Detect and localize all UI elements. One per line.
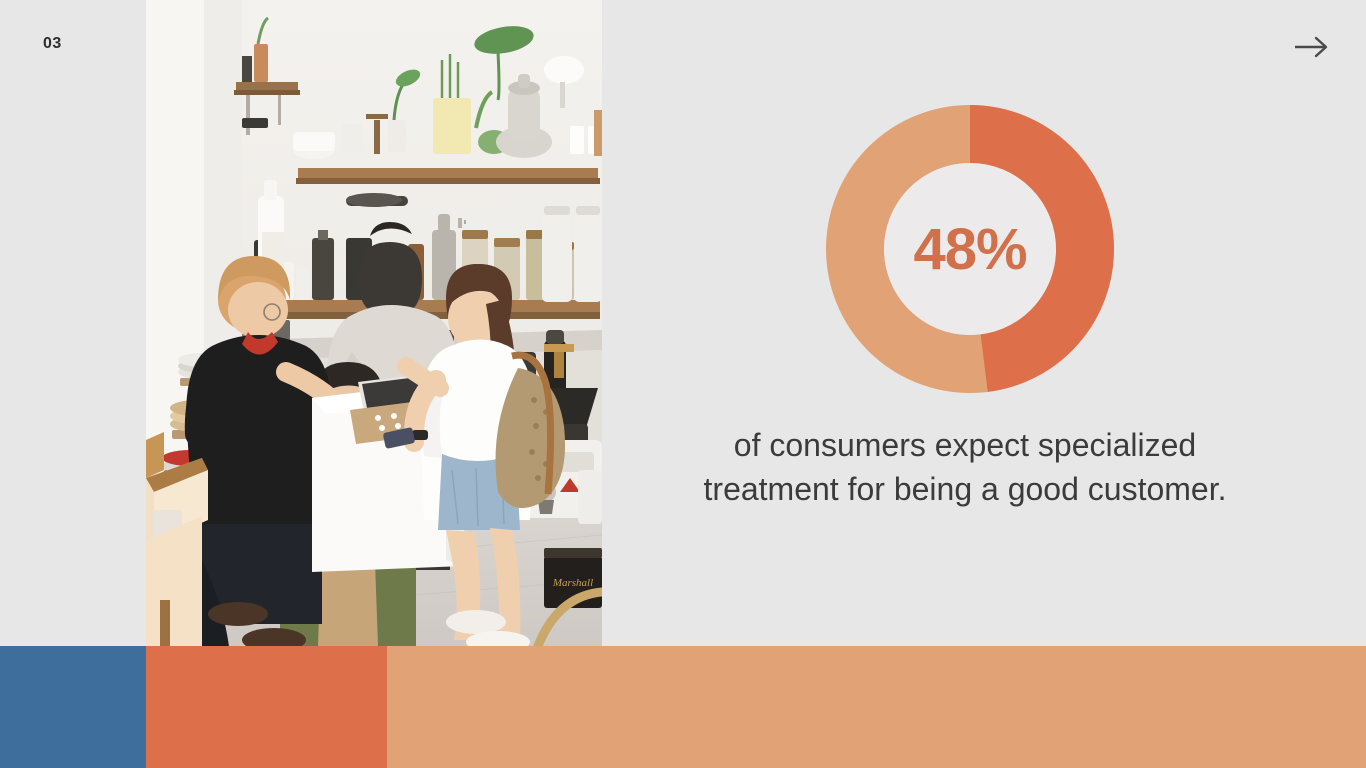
footer-bar-blue (0, 646, 146, 768)
arrow-right-icon (1294, 36, 1330, 58)
slide: 03 (0, 0, 1366, 768)
stat-caption: of consumers expect specialized treatmen… (700, 424, 1230, 511)
footer-bar-light-orange (387, 646, 1366, 768)
page-number: 03 (43, 35, 62, 53)
donut-chart: 48% (826, 105, 1114, 393)
footer-color-bars (0, 646, 1366, 768)
donut-value-label: 48% (826, 105, 1114, 393)
footer-bar-dark-orange (146, 646, 387, 768)
cafe-counter-photo: Marshall (146, 0, 602, 646)
svg-text:Marshall: Marshall (552, 577, 593, 589)
next-slide-button[interactable] (1292, 30, 1332, 64)
